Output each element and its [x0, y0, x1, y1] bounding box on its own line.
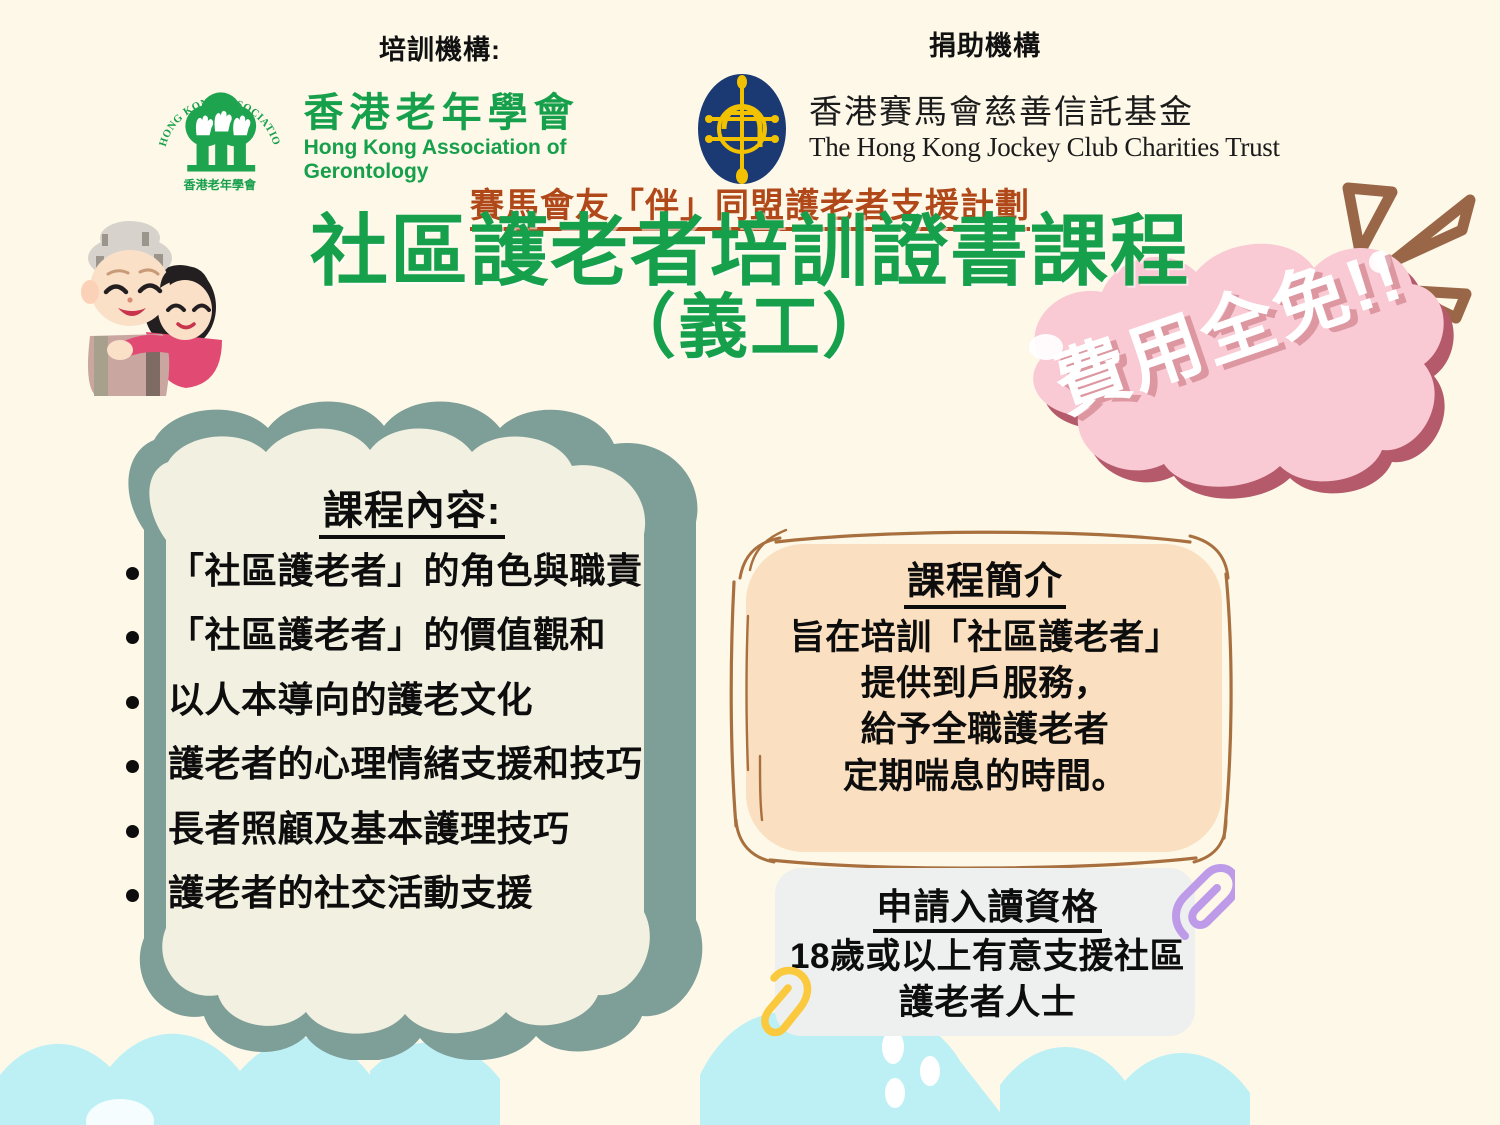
course-content-inner: 課程內容: 「社區護老者」的角色與職責 「社區護老者」的價值觀和 以人本導向的護… — [62, 400, 762, 1060]
funding-organisation-block: 捐助機構 香港賽 — [690, 24, 1310, 189]
paperclip-icon — [1163, 862, 1235, 948]
hkag-name-en: Hong Kong Association of Gerontology — [304, 136, 670, 184]
course-intro-inner: 課程簡介 旨在培訓「社區護老者」 提供到戶服務， 給予全職護老者 定期喘息的時間… — [740, 530, 1230, 860]
training-organisation-block: 培訓機構: HONG KONG ASSOCIATION OF GERONTOLO… — [150, 28, 670, 203]
course-content-list: 「社區護老者」的角色與職責 「社區護老者」的價值觀和 以人本導向的護老文化 護老… — [92, 550, 732, 937]
list-item: 護老者的心理情緒支援和技巧 — [118, 743, 732, 785]
course-intro-line: 給予全職護老者 — [861, 707, 1110, 753]
eligibility-heading: 申請入讀資格 — [873, 878, 1101, 930]
course-content-heading: 課程內容: — [92, 478, 732, 536]
course-intro-line: 旨在培訓「社區護老者」 — [790, 615, 1181, 661]
course-intro-heading: 課程簡介 — [904, 550, 1066, 605]
list-item: 長者照顧及基本護理技巧 — [118, 808, 732, 850]
jockey-club-emblem-icon — [690, 69, 795, 189]
course-intro-line: 提供到戶服務， — [861, 661, 1110, 707]
eligibility-heading-text: 申請入讀資格 — [873, 886, 1101, 933]
jockey-club-name-en: The Hong Kong Jockey Club Charities Trus… — [809, 133, 1280, 163]
list-item: 護老者的社交活動支援 — [118, 872, 732, 914]
eligibility-inner: 申請入讀資格 18歲或以上有意支援社區 護老者人士 — [760, 872, 1215, 1032]
jockey-club-name-zh: 香港賽馬會慈善信託基金 — [809, 95, 1280, 133]
training-org-caption: 培訓機構: — [210, 28, 670, 67]
eligibility-line: 18歲或以上有意支援社區 — [790, 934, 1185, 980]
hkag-name-zh: 香港老年學會 — [304, 92, 670, 134]
list-item: 以人本導向的護老文化 — [118, 679, 732, 721]
paperclip-icon — [760, 962, 826, 1044]
course-intro-heading-text: 課程簡介 — [904, 561, 1066, 609]
list-item: 「社區護老者」的角色與職責 — [118, 550, 732, 592]
list-item: 「社區護老者」的價值觀和 — [118, 614, 732, 656]
main-title-line1: 社區護老者培訓證書課程 — [310, 207, 1190, 295]
poster-canvas: 培訓機構: HONG KONG ASSOCIATION OF GERONTOLO… — [0, 0, 1500, 1125]
course-content-heading-text: 課程內容: — [319, 489, 505, 539]
course-intro-line: 定期喘息的時間。 — [843, 754, 1127, 800]
eligibility-line: 護老者人士 — [899, 980, 1077, 1026]
funding-org-caption: 捐助機構 — [660, 24, 1310, 63]
